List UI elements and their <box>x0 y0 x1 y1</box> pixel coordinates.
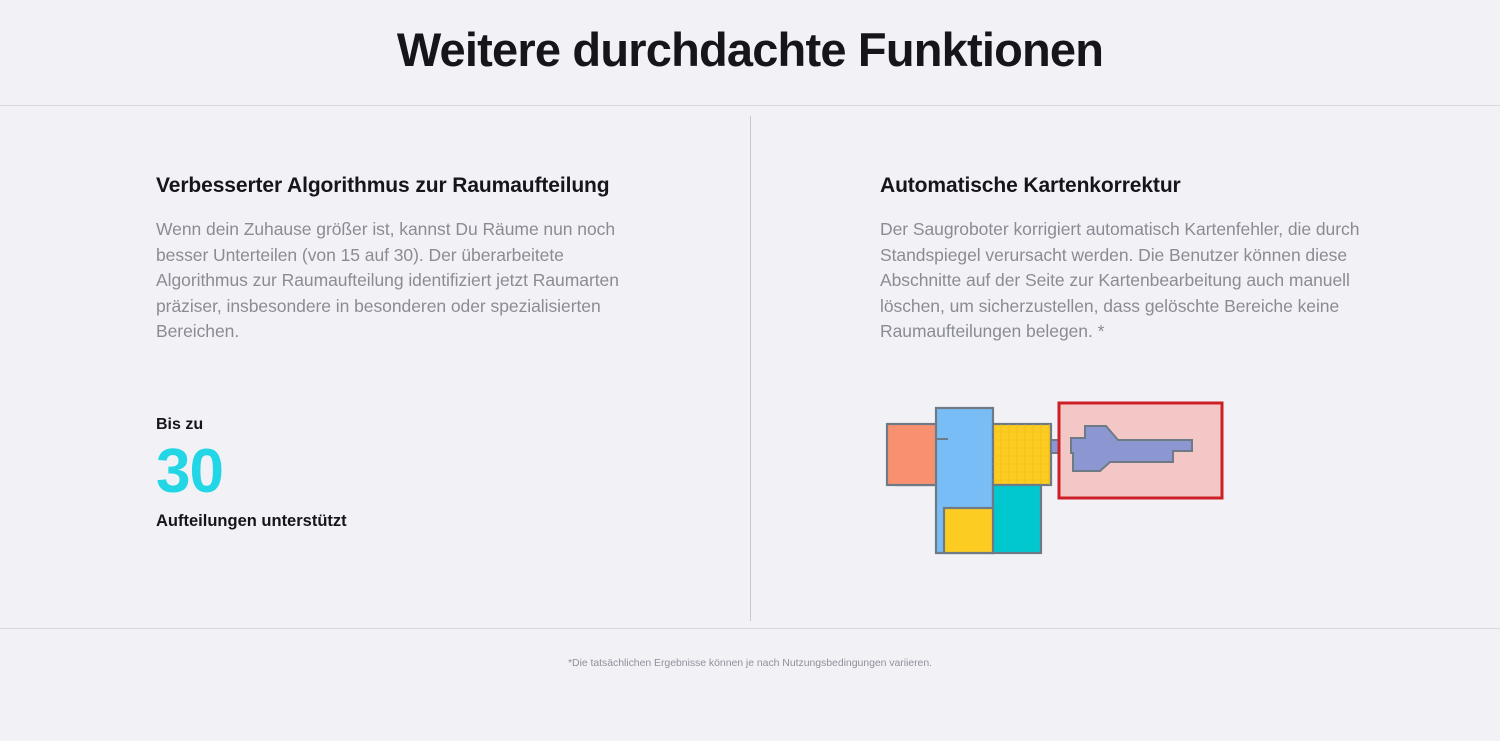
floorplan-map-illustration <box>878 395 1238 565</box>
left-card-body: Wenn dein Zuhause größer ist, kannst Du … <box>156 217 656 345</box>
floorplan-svg <box>878 395 1238 565</box>
right-card-title: Automatische Kartenkorrektur <box>880 173 1500 198</box>
stat-label-bottom: Aufteilungen unterstützt <box>156 513 750 530</box>
room-yellow-upper <box>993 424 1051 485</box>
footnote-area: *Die tatsächlichen Ergebnisse können je … <box>0 629 1500 741</box>
room-yellow-lower <box>944 508 993 553</box>
room-teal <box>993 485 1041 553</box>
right-card-body: Der Saugroboter korrigiert automatisch K… <box>880 217 1372 345</box>
left-card-title: Verbesserter Algorithmus zur Raumaufteil… <box>156 173 750 198</box>
header: Weitere durchdachte Funktionen <box>0 0 1500 105</box>
left-feature-card: Verbesserter Algorithmus zur Raumaufteil… <box>0 105 750 628</box>
room-salmon <box>887 424 936 485</box>
stat-label-top: Bis zu <box>156 417 750 433</box>
slide-root: Weitere durchdachte Funktionen Verbesser… <box>0 0 1500 741</box>
stat-block: Bis zu 30 Aufteilungen unterstützt <box>156 417 750 530</box>
page-title: Weitere durchdachte Funktionen <box>397 26 1103 79</box>
stat-value: 30 <box>156 441 750 503</box>
footnote-text: *Die tatsächlichen Ergebnisse können je … <box>0 657 1500 669</box>
